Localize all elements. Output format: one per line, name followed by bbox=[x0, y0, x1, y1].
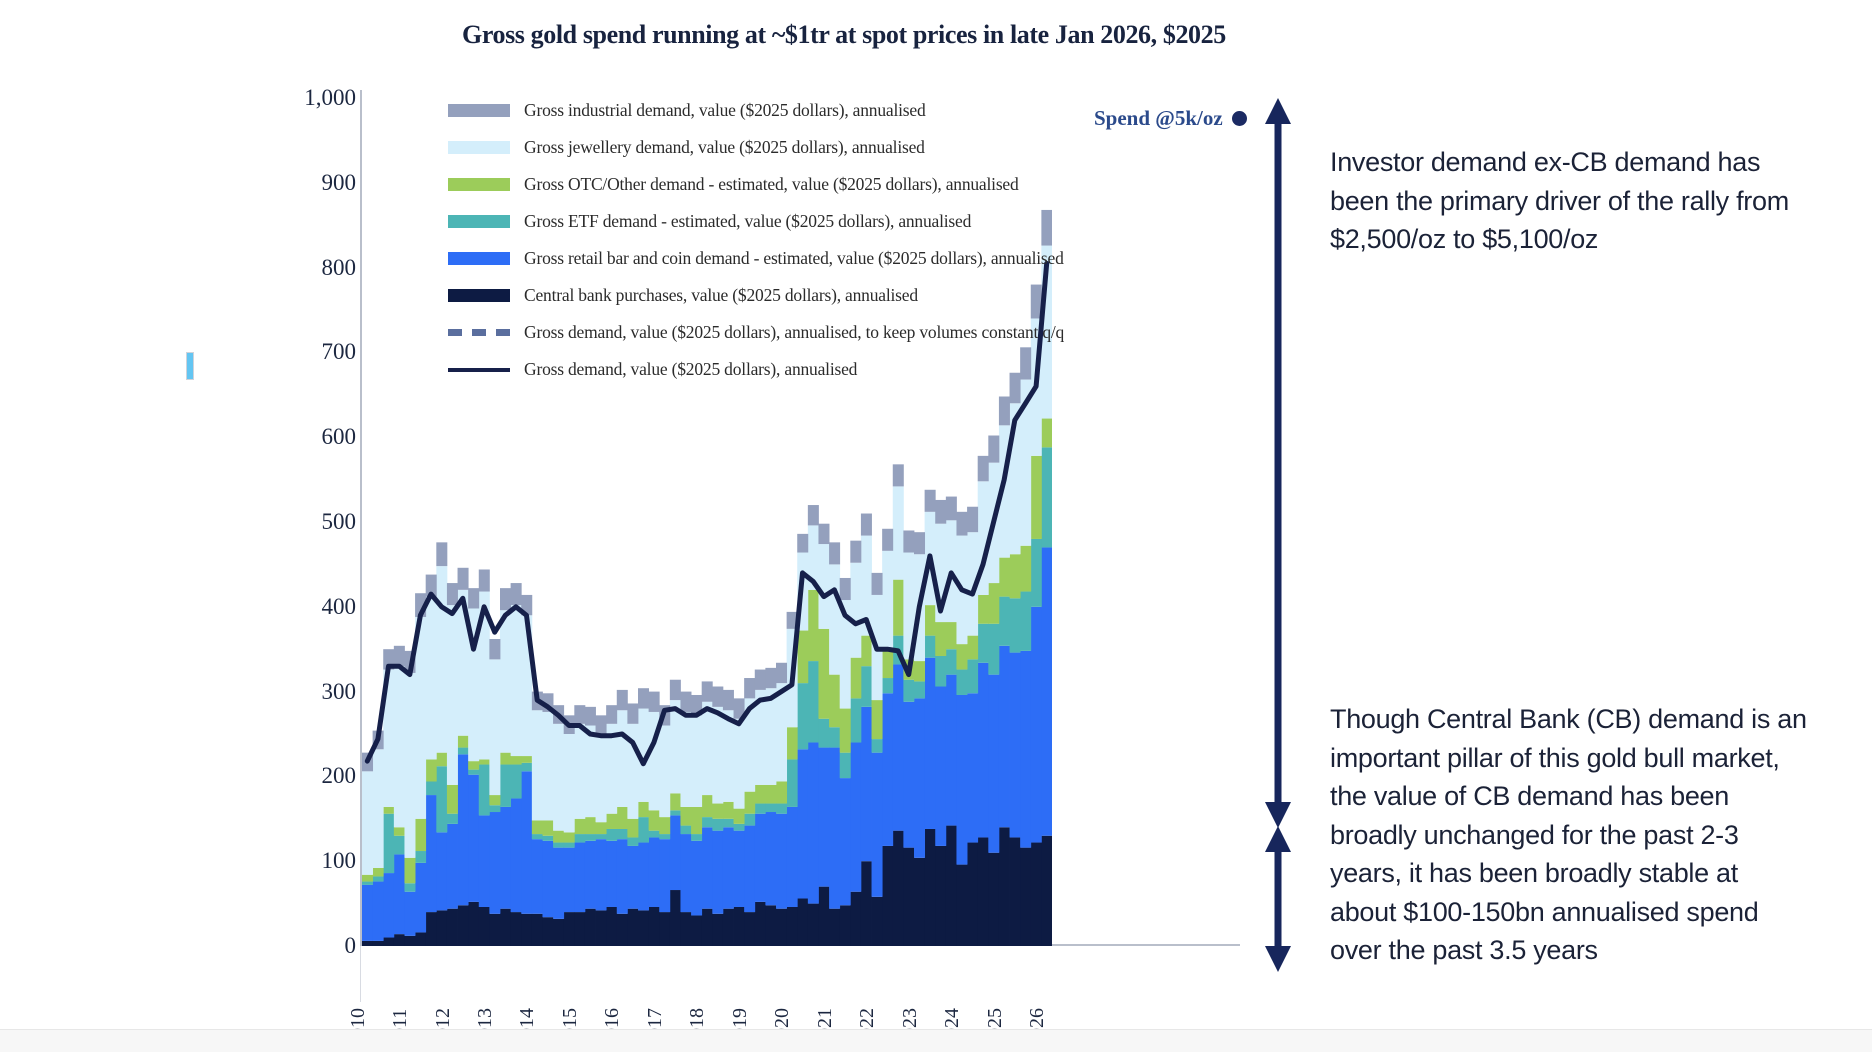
bar-segment bbox=[511, 756, 522, 764]
bar-segment bbox=[542, 821, 553, 836]
bar-segment bbox=[362, 941, 373, 946]
bar-segment bbox=[436, 832, 447, 910]
bar-segment bbox=[893, 664, 904, 830]
bar-segment bbox=[511, 605, 522, 756]
bar-segment bbox=[988, 675, 999, 853]
bar-segment bbox=[373, 868, 384, 876]
bar-segment bbox=[596, 822, 607, 834]
bar-segment bbox=[394, 836, 405, 855]
bar-segment bbox=[914, 698, 925, 857]
bar-segment bbox=[659, 726, 670, 818]
bar-segment bbox=[903, 702, 914, 848]
bar-segment bbox=[521, 756, 532, 763]
bar-segment bbox=[765, 804, 776, 812]
y-axis-tick: 400 bbox=[292, 594, 356, 620]
bar-segment bbox=[956, 670, 967, 695]
bar-segment bbox=[723, 802, 734, 819]
bar-segment bbox=[1020, 546, 1031, 592]
bar-segment bbox=[553, 848, 564, 919]
bar-segment bbox=[755, 814, 766, 902]
bar-segment bbox=[373, 941, 384, 946]
bar-segment bbox=[383, 938, 394, 946]
bar-segment bbox=[872, 700, 883, 739]
bar-segment bbox=[489, 812, 500, 914]
bar-segment bbox=[914, 858, 925, 946]
bar-segment bbox=[765, 688, 776, 785]
bar-segment bbox=[638, 843, 649, 911]
bar-segment bbox=[978, 624, 989, 663]
bar-segment bbox=[882, 846, 893, 946]
bar-segment bbox=[426, 912, 437, 946]
double-headed-vertical-arrow-icon-lower bbox=[1258, 826, 1298, 972]
bar-segment bbox=[542, 712, 553, 821]
bar-segment bbox=[840, 778, 851, 905]
bar-segment bbox=[956, 644, 967, 669]
y-axis-tick: 800 bbox=[292, 255, 356, 281]
bar-segment bbox=[967, 636, 978, 660]
bar-segment bbox=[967, 659, 978, 693]
bar-segment bbox=[553, 843, 564, 848]
bar-segment bbox=[627, 703, 638, 723]
bar-segment bbox=[489, 795, 500, 805]
bar-segment bbox=[606, 814, 617, 829]
bar-segment bbox=[967, 843, 978, 946]
bar-segment bbox=[999, 558, 1010, 597]
bar-segment bbox=[914, 681, 925, 698]
bar-segment bbox=[596, 715, 607, 734]
bar-segment bbox=[956, 695, 967, 865]
bar-segment bbox=[840, 753, 851, 778]
bar-segment bbox=[988, 624, 999, 675]
bar-segment bbox=[765, 905, 776, 946]
bar-segment bbox=[893, 831, 904, 946]
bar-segment bbox=[585, 817, 596, 834]
bar-segment bbox=[521, 763, 532, 771]
bar-segment bbox=[511, 798, 522, 912]
bar-segment bbox=[542, 917, 553, 946]
legend-swatch-jewellery bbox=[448, 141, 510, 154]
bar-segment bbox=[532, 710, 543, 820]
bar-segment bbox=[1041, 447, 1052, 547]
bar-segment bbox=[712, 914, 723, 946]
bar-segment bbox=[500, 807, 511, 909]
bar-segment bbox=[532, 839, 543, 914]
bar-segment bbox=[829, 564, 840, 674]
bar-segment bbox=[1010, 837, 1021, 946]
bar-segment bbox=[564, 843, 575, 848]
bar-segment bbox=[426, 795, 437, 912]
legend-item-label: Gross demand, value ($2025 dollars), ann… bbox=[524, 322, 1064, 343]
bar-segment bbox=[956, 512, 967, 536]
bar-segment bbox=[1010, 554, 1021, 598]
bar-segment bbox=[585, 909, 596, 946]
bar-segment bbox=[436, 910, 447, 946]
bar-segment bbox=[978, 837, 989, 946]
bar-segment bbox=[458, 905, 469, 946]
bar-segment bbox=[373, 876, 384, 881]
bar-segment bbox=[489, 639, 500, 659]
bar-segment bbox=[532, 821, 543, 835]
bar-segment bbox=[617, 914, 628, 946]
bar-segment bbox=[574, 724, 585, 819]
bar-segment bbox=[935, 656, 946, 687]
bar-segment bbox=[691, 834, 702, 841]
bar-segment bbox=[394, 827, 405, 835]
y-axis-tick: 100 bbox=[292, 848, 356, 874]
y-axis-labels: 01002003004005006007008009001,000 bbox=[284, 90, 356, 960]
bar-segment bbox=[946, 675, 957, 826]
annotation-note-investor-demand: Investor demand ex-CB demand has been th… bbox=[1330, 143, 1810, 259]
bar-segment bbox=[829, 675, 840, 728]
bar-segment bbox=[818, 719, 829, 748]
bar-segment bbox=[394, 854, 405, 934]
bar-segment bbox=[404, 858, 415, 883]
bar-segment bbox=[829, 727, 840, 747]
bar-segment bbox=[617, 690, 628, 710]
bar-segment bbox=[574, 705, 585, 724]
bar-segment bbox=[617, 839, 628, 914]
bar-segment bbox=[808, 661, 819, 742]
bar-segment bbox=[468, 902, 479, 946]
bar-segment bbox=[978, 595, 989, 624]
legend-item[interactable]: Gross jewellery demand, value ($2025 dol… bbox=[448, 129, 1068, 166]
bar-segment bbox=[500, 588, 511, 610]
bar-segment bbox=[606, 841, 617, 907]
bar-segment bbox=[818, 887, 829, 946]
bar-segment bbox=[1031, 539, 1042, 607]
bar-segment bbox=[532, 914, 543, 946]
bar-segment bbox=[850, 658, 861, 699]
bar-segment bbox=[362, 875, 373, 882]
bar-segment bbox=[818, 524, 829, 544]
bar-segment bbox=[691, 915, 702, 946]
bar-segment bbox=[861, 861, 872, 946]
bar-segment bbox=[1020, 592, 1031, 651]
bar-segment bbox=[436, 566, 447, 753]
y-axis-tick: 900 bbox=[292, 170, 356, 196]
bar-segment bbox=[489, 659, 500, 795]
bar-segment bbox=[649, 692, 660, 712]
bar-segment bbox=[606, 829, 617, 841]
bar-segment bbox=[818, 748, 829, 887]
bar-segment bbox=[776, 814, 787, 909]
bar-segment bbox=[680, 692, 691, 712]
bar-segment bbox=[596, 834, 607, 839]
bar-segment bbox=[988, 436, 999, 463]
bar-segment bbox=[436, 766, 447, 832]
legend-item[interactable]: Gross demand, value ($2025 dollars), ann… bbox=[448, 351, 1068, 388]
bar-segment bbox=[691, 715, 702, 807]
bar-segment bbox=[564, 832, 575, 842]
bar-segment bbox=[925, 829, 936, 946]
y-axis-tick: 700 bbox=[292, 339, 356, 365]
bar-segment bbox=[458, 748, 469, 755]
bar-segment bbox=[925, 605, 936, 636]
bar-segment bbox=[373, 882, 384, 941]
bar-segment bbox=[808, 904, 819, 946]
bar-segment bbox=[723, 909, 734, 946]
bar-segment bbox=[1020, 848, 1031, 946]
bar-segment bbox=[744, 678, 755, 698]
bar-segment bbox=[850, 892, 861, 946]
bar-segment bbox=[818, 544, 829, 629]
bar-segment bbox=[850, 698, 861, 742]
bar-segment bbox=[935, 500, 946, 524]
bar-segment bbox=[394, 666, 405, 827]
bar-segment bbox=[723, 710, 734, 802]
bar-segment bbox=[638, 817, 649, 842]
bar-segment bbox=[511, 912, 522, 946]
bar-segment bbox=[925, 658, 936, 829]
bar-segment bbox=[999, 646, 1010, 827]
bar-segment bbox=[426, 781, 437, 795]
bar-segment bbox=[670, 810, 681, 815]
bar-segment bbox=[447, 785, 458, 814]
bar-segment bbox=[765, 668, 776, 688]
bar-segment bbox=[585, 841, 596, 909]
bar-segment bbox=[914, 661, 925, 681]
bar-segment bbox=[776, 909, 787, 946]
bar-segment bbox=[521, 914, 532, 946]
bar-segment bbox=[946, 649, 957, 674]
bar-segment bbox=[797, 749, 808, 898]
bar-segment bbox=[532, 834, 543, 839]
bar-segment bbox=[468, 761, 479, 769]
bar-segment bbox=[702, 795, 713, 817]
bar-segment bbox=[500, 753, 511, 765]
bar-segment bbox=[585, 707, 596, 726]
bar-segment bbox=[585, 726, 596, 818]
bar-segment bbox=[925, 636, 936, 658]
bar-segment bbox=[840, 905, 851, 946]
legend-item[interactable]: Gross demand, value ($2025 dollars), ann… bbox=[448, 314, 1068, 351]
bar-segment bbox=[723, 819, 734, 827]
bar-segment bbox=[659, 839, 670, 912]
legend-item-label: Gross ETF demand - estimated, value ($20… bbox=[524, 211, 971, 232]
bar-segment bbox=[574, 912, 585, 946]
legend-item[interactable]: Gross retail bar and coin demand - estim… bbox=[448, 240, 1068, 277]
filled-circle-icon bbox=[1232, 111, 1247, 126]
bar-segment bbox=[627, 846, 638, 909]
bar-segment bbox=[967, 693, 978, 842]
bar-segment bbox=[511, 583, 522, 605]
left-edge-marker bbox=[186, 352, 194, 380]
chart-legend: Gross industrial demand, value ($2025 do… bbox=[448, 92, 1068, 388]
bar-segment bbox=[787, 759, 798, 806]
bar-segment bbox=[680, 912, 691, 946]
bar-segment bbox=[404, 673, 415, 858]
bar-segment bbox=[1041, 836, 1052, 946]
bar-segment bbox=[670, 793, 681, 810]
bar-segment bbox=[479, 815, 490, 907]
bar-segment bbox=[1010, 598, 1021, 652]
bar-segment bbox=[776, 804, 787, 814]
bar-segment bbox=[734, 824, 745, 831]
bar-segment bbox=[1041, 547, 1052, 835]
bar-segment bbox=[596, 734, 607, 822]
bar-segment bbox=[893, 580, 904, 636]
bar-segment bbox=[914, 532, 925, 554]
legend-swatch-line_gross_demand bbox=[448, 368, 510, 372]
bar-segment bbox=[447, 583, 458, 605]
bar-segment bbox=[999, 827, 1010, 946]
spend-annotation: Spend @5k/oz bbox=[1094, 106, 1247, 131]
bar-segment bbox=[712, 819, 723, 831]
bar-segment bbox=[362, 885, 373, 941]
bar-segment bbox=[956, 865, 967, 946]
bar-segment bbox=[702, 817, 713, 827]
bar-segment bbox=[734, 831, 745, 907]
bar-segment bbox=[649, 907, 660, 946]
bar-segment bbox=[627, 837, 638, 845]
bar-segment bbox=[1031, 607, 1042, 843]
bar-segment bbox=[564, 734, 575, 832]
legend-item-label: Gross OTC/Other demand - estimated, valu… bbox=[524, 174, 1019, 195]
bar-segment bbox=[702, 909, 713, 946]
bar-segment bbox=[797, 631, 808, 684]
bar-segment bbox=[882, 551, 893, 649]
bar-segment bbox=[988, 583, 999, 624]
bar-segment bbox=[574, 834, 585, 842]
legend-swatch-etf bbox=[448, 215, 510, 228]
legend-item[interactable]: Central bank purchases, value ($2025 dol… bbox=[448, 277, 1068, 314]
bar-segment bbox=[861, 707, 872, 861]
bar-segment bbox=[765, 812, 776, 905]
bar-segment bbox=[649, 810, 660, 830]
legend-item[interactable]: Gross OTC/Other demand - estimated, valu… bbox=[448, 166, 1068, 203]
y-axis-tick: 300 bbox=[292, 679, 356, 705]
bar-segment bbox=[882, 678, 893, 693]
bar-segment bbox=[808, 742, 819, 903]
bar-segment bbox=[415, 932, 426, 946]
bar-segment bbox=[447, 605, 458, 785]
bar-segment bbox=[670, 890, 681, 946]
bar-segment bbox=[585, 834, 596, 841]
bar-segment bbox=[680, 834, 691, 912]
bar-segment bbox=[712, 831, 723, 914]
bar-segment bbox=[436, 753, 447, 767]
bar-segment bbox=[680, 712, 691, 807]
bar-segment bbox=[861, 666, 872, 707]
bar-segment bbox=[1010, 653, 1021, 838]
bar-segment bbox=[638, 802, 649, 817]
legend-swatch-retail_bar_coin bbox=[448, 252, 510, 265]
bar-segment bbox=[627, 909, 638, 946]
bar-segment bbox=[1031, 456, 1042, 539]
bar-segment bbox=[787, 727, 798, 759]
bar-segment bbox=[426, 759, 437, 781]
bar-segment bbox=[882, 649, 893, 678]
bar-segment bbox=[404, 892, 415, 936]
bar-segment bbox=[946, 622, 957, 649]
bar-segment bbox=[638, 910, 649, 946]
bar-segment bbox=[935, 622, 946, 656]
legend-item-label: Gross industrial demand, value ($2025 do… bbox=[524, 100, 926, 121]
bar-segment bbox=[659, 834, 670, 839]
bar-segment bbox=[946, 497, 957, 521]
bar-segment bbox=[872, 573, 883, 595]
bar-segment bbox=[383, 814, 394, 873]
bar-segment bbox=[702, 827, 713, 908]
bar-segment bbox=[744, 814, 755, 826]
bar-segment bbox=[723, 690, 734, 710]
bar-segment bbox=[638, 688, 649, 708]
bar-segment bbox=[988, 853, 999, 946]
bar-segment bbox=[564, 912, 575, 946]
bar-segment bbox=[404, 936, 415, 946]
bar-segment bbox=[903, 680, 914, 702]
bar-segment bbox=[999, 397, 1010, 426]
bar-segment bbox=[553, 831, 564, 843]
bar-segment bbox=[744, 912, 755, 946]
legend-item-label: Gross retail bar and coin demand - estim… bbox=[524, 248, 1064, 269]
bar-segment bbox=[659, 817, 670, 834]
bar-segment bbox=[882, 693, 893, 846]
bar-segment bbox=[797, 683, 808, 749]
bar-segment bbox=[680, 826, 691, 834]
bar-segment bbox=[447, 824, 458, 909]
bar-segment bbox=[447, 909, 458, 946]
bar-segment bbox=[426, 597, 437, 760]
bar-segment bbox=[829, 909, 840, 946]
bar-segment bbox=[702, 702, 713, 795]
bar-segment bbox=[712, 804, 723, 819]
bar-segment bbox=[415, 851, 426, 863]
bar-segment bbox=[935, 687, 946, 846]
bar-segment bbox=[872, 753, 883, 897]
bar-segment bbox=[787, 807, 798, 907]
bar-segment bbox=[468, 775, 479, 902]
bar-segment bbox=[670, 815, 681, 890]
bar-segment bbox=[500, 610, 511, 752]
bar-segment bbox=[935, 846, 946, 946]
legend-swatch-central_bank bbox=[448, 289, 510, 302]
spend-annotation-label: Spend @5k/oz bbox=[1094, 106, 1223, 131]
bar-segment bbox=[818, 629, 829, 719]
bar-segment bbox=[458, 568, 469, 590]
bar-segment bbox=[1041, 419, 1052, 448]
y-axis-tick: 0 bbox=[292, 933, 356, 959]
bar-segment bbox=[712, 687, 723, 707]
bar-segment bbox=[999, 597, 1010, 646]
bar-segment bbox=[468, 588, 479, 608]
bar-segment bbox=[744, 826, 755, 913]
bar-segment bbox=[734, 719, 745, 809]
bar-segment bbox=[617, 829, 628, 839]
bar-segment bbox=[596, 839, 607, 910]
bar-segment bbox=[362, 771, 373, 874]
bar-segment bbox=[362, 882, 373, 885]
legend-item[interactable]: Gross ETF demand - estimated, value ($20… bbox=[448, 203, 1068, 240]
bar-segment bbox=[787, 907, 798, 946]
bar-segment bbox=[617, 807, 628, 829]
bar-segment bbox=[542, 836, 553, 841]
bar-segment bbox=[649, 837, 660, 907]
bar-segment bbox=[458, 736, 469, 748]
bar-segment bbox=[850, 563, 861, 658]
legend-swatch-otc_other bbox=[448, 178, 510, 191]
bar-segment bbox=[808, 590, 819, 661]
bar-segment bbox=[511, 765, 522, 799]
legend-item[interactable]: Gross industrial demand, value ($2025 do… bbox=[448, 92, 1068, 129]
bar-segment bbox=[755, 902, 766, 946]
legend-swatch-industrial bbox=[448, 104, 510, 117]
legend-swatch-line_constant_volume bbox=[448, 329, 510, 336]
bar-segment bbox=[1020, 651, 1031, 848]
annotation-note-cb-demand: Though Central Bank (CB) demand is an im… bbox=[1330, 700, 1810, 970]
y-axis-tick: 200 bbox=[292, 763, 356, 789]
bar-segment bbox=[521, 771, 532, 913]
